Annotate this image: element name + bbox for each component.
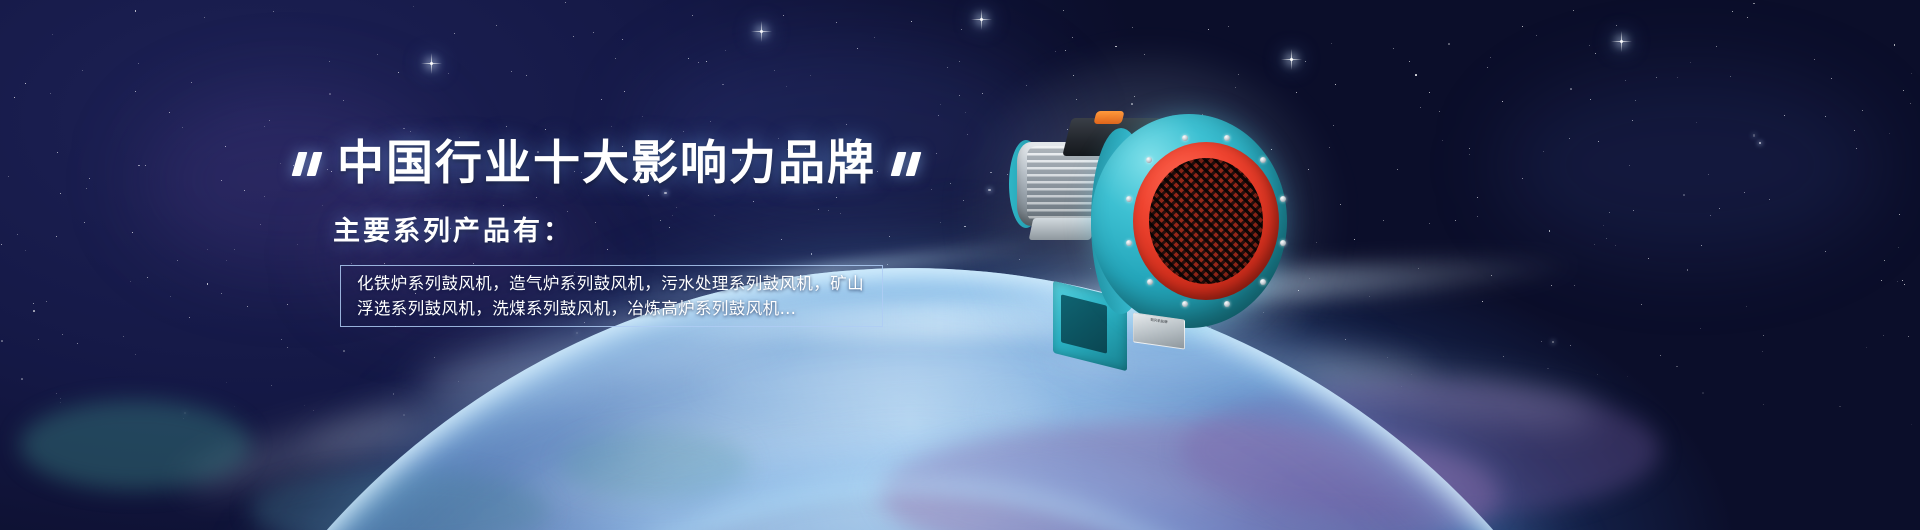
product-line: 化铁炉系列鼓风机，造气炉系列鼓风机，污水处理系列鼓风机，矿山 xyxy=(357,271,866,296)
hero-banner: 中国行业十大影响力品牌 主要系列产品有： 化铁炉系列鼓风机，造气炉系列鼓风机，污… xyxy=(0,0,1920,530)
terminal-cap xyxy=(1093,111,1124,124)
headline-row: 中国行业十大影响力品牌 xyxy=(295,140,918,187)
product-list-box: 化铁炉系列鼓风机，造气炉系列鼓风机，污水处理系列鼓风机，矿山 浮选系列鼓风机，洗… xyxy=(340,265,883,327)
subtitle: 主要系列产品有： xyxy=(333,209,573,248)
quote-open-icon xyxy=(295,152,319,176)
centrifugal-blower-image: 鼓风机铭牌 xyxy=(1005,100,1295,360)
quote-close-icon xyxy=(894,152,918,176)
page-title: 中国行业十大影响力品牌 xyxy=(337,140,876,187)
motor-mounting-foot xyxy=(1029,218,1096,240)
product-line: 浮选系列鼓风机，洗煤系列鼓风机，冶炼高炉系列鼓风机… xyxy=(357,296,866,321)
inlet-grille xyxy=(1149,158,1263,284)
nameplate: 鼓风机铭牌 xyxy=(1133,312,1185,349)
